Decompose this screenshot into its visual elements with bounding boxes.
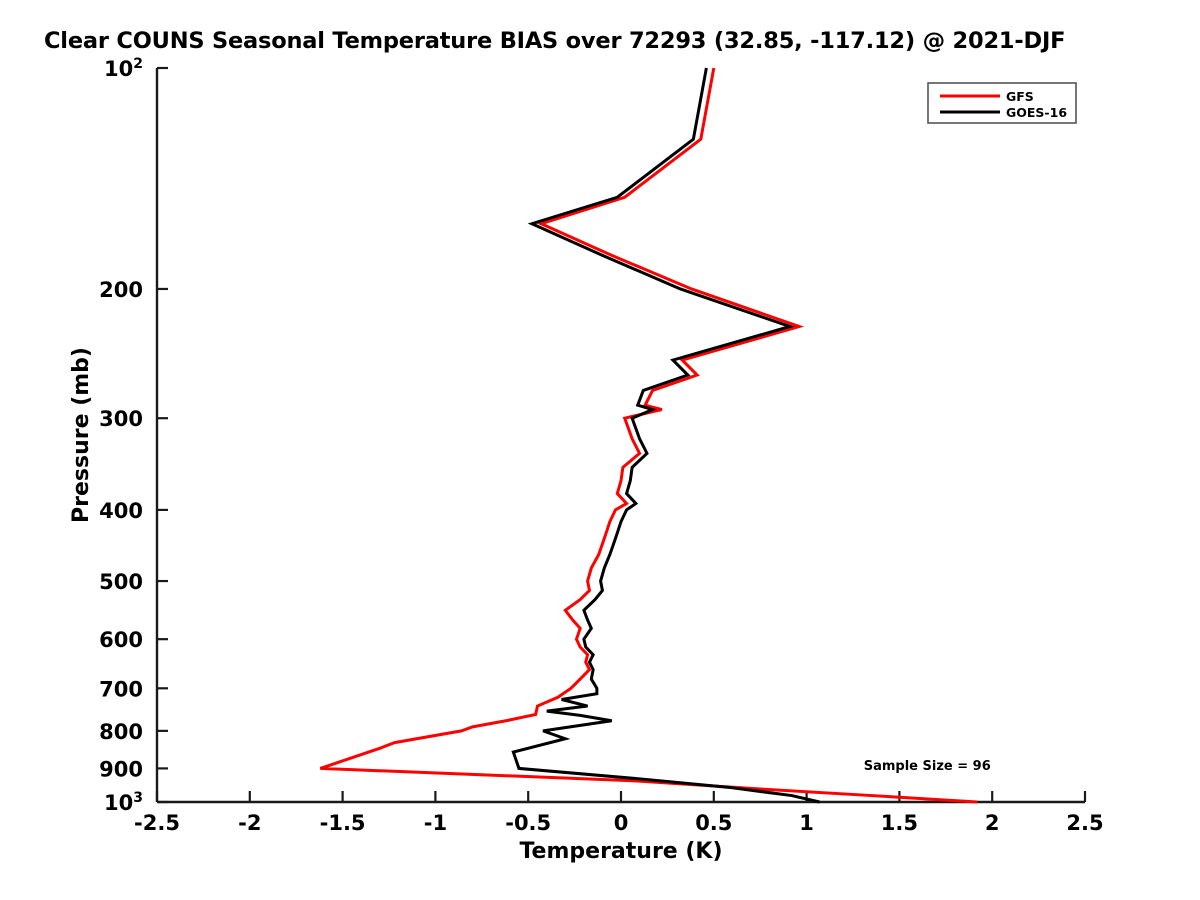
x-tick-label: 2.5 <box>1066 811 1103 835</box>
y-axis-title: Pressure (mb) <box>69 347 94 523</box>
legend-label-gfs: GFS <box>1006 89 1034 104</box>
chart-figure: Clear COUNS Seasonal Temperature BIAS ov… <box>0 0 1200 900</box>
x-tick-label: 1.5 <box>881 811 918 835</box>
x-tick-label: 2 <box>985 811 1000 835</box>
x-tick-label: 1 <box>799 811 814 835</box>
series-line-goes-16 <box>513 68 819 802</box>
x-tick-label: -2.5 <box>134 811 180 835</box>
x-tick-label: -1 <box>424 811 447 835</box>
x-tick-label: -0.5 <box>505 811 551 835</box>
x-tick-label: -1.5 <box>320 811 366 835</box>
y-tick-label: 700 <box>99 677 143 701</box>
y-tick-label: 200 <box>99 278 143 302</box>
series-line-gfs <box>320 68 977 802</box>
y-tick-label: 900 <box>99 757 143 781</box>
annotation-group: Sample Size = 96 <box>864 759 991 774</box>
x-tick-label: 0.5 <box>695 811 732 835</box>
y-tick-label: 400 <box>99 499 143 523</box>
x-tick-label: -2 <box>238 811 261 835</box>
x-axis-ticks: -2.5-2-1.5-1-0.500.511.522.5 <box>134 791 1104 835</box>
sample-size-annotation: Sample Size = 96 <box>864 759 991 774</box>
x-axis-title: Temperature (K) <box>519 839 722 864</box>
y-tick-label: 500 <box>99 570 143 594</box>
y-tick-label: 600 <box>99 628 143 652</box>
legend[interactable]: GFS GOES-16 <box>928 83 1076 123</box>
axis-spines <box>157 68 1085 802</box>
plot-canvas: 102200300400500600700800900103 -2.5-2-1.… <box>0 0 1200 900</box>
data-series-group <box>320 68 977 802</box>
legend-label-goes16: GOES-16 <box>1006 105 1067 120</box>
y-tick-label: 300 <box>99 407 143 431</box>
y-tick-label: 800 <box>99 720 143 744</box>
x-tick-label: 0 <box>614 811 629 835</box>
y-tick-label: 102 <box>104 56 143 81</box>
